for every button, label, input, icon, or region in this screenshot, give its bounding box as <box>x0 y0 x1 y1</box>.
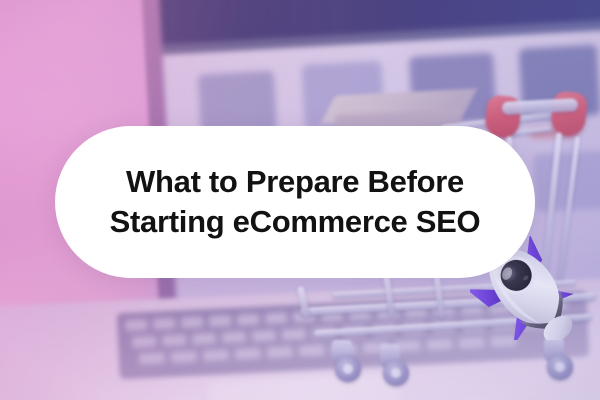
title-card: What to Prepare Before Starting eCommerc… <box>55 126 535 278</box>
title-line-2: Starting eCommerce SEO <box>110 202 481 242</box>
cart-wheel <box>383 360 409 386</box>
cart-wheel <box>547 354 573 380</box>
banner-root: What to Prepare Before Starting eCommerc… <box>0 0 600 400</box>
cart-wheel <box>335 356 361 382</box>
title-line-1: What to Prepare Before <box>126 162 464 202</box>
